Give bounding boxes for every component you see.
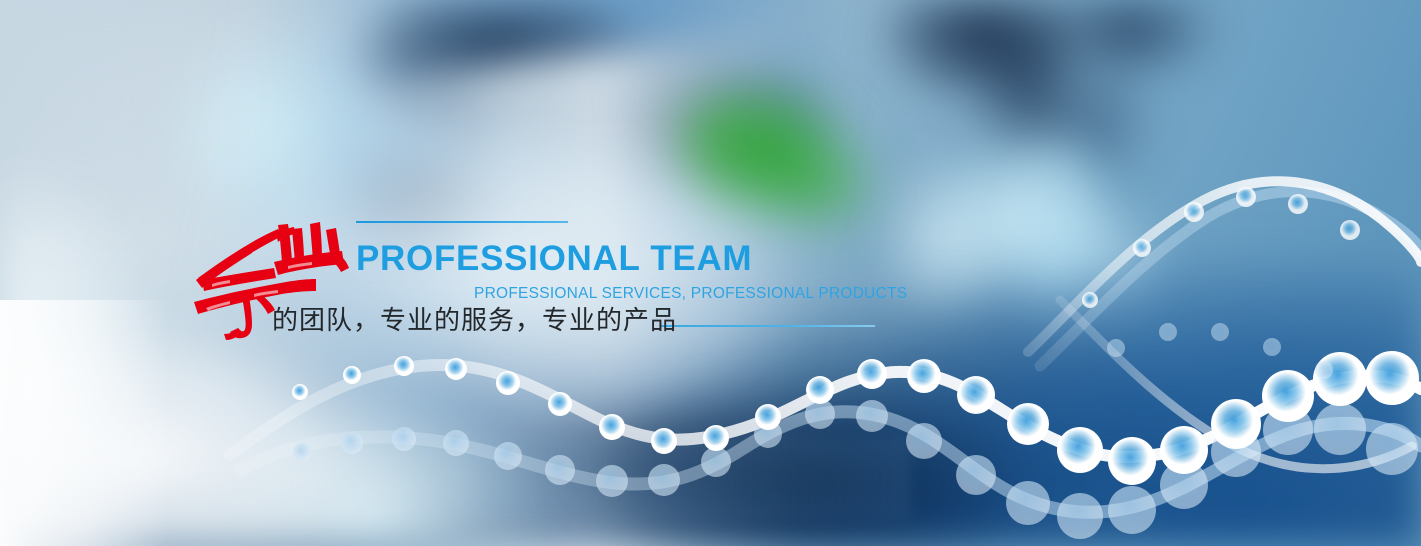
professional-team-banner: PROFESSIONAL TEAM PROFESSIONAL SERVICES,…: [0, 0, 1421, 546]
page-title-chinese: 的团队，专业的服务，专业的产品: [272, 306, 677, 338]
banner-content: PROFESSIONAL TEAM PROFESSIONAL SERVICES,…: [0, 0, 1421, 546]
decorative-rule-top: [356, 221, 568, 223]
tagline-english: PROFESSIONAL SERVICES, PROFESSIONAL PROD…: [474, 286, 907, 302]
page-title-english: PROFESSIONAL TEAM: [356, 241, 752, 276]
decorative-rule-bottom: [661, 325, 875, 327]
